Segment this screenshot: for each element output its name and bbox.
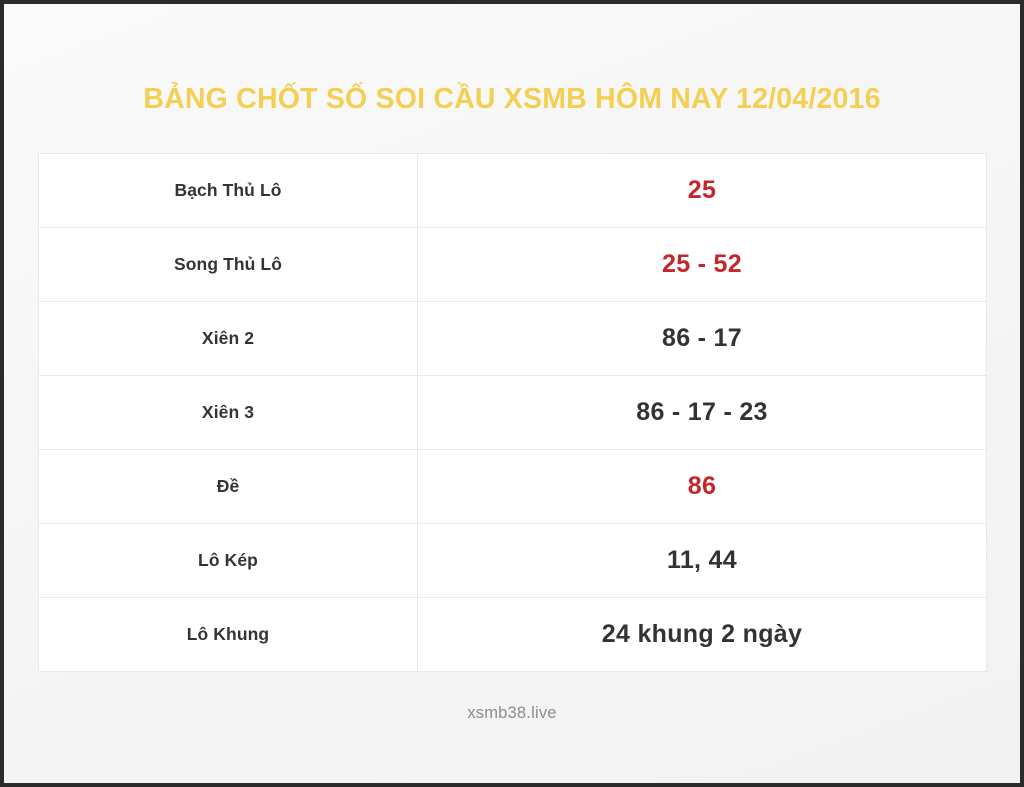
row-value-xien-3: 86 - 17 - 23 — [418, 376, 987, 450]
poster-canvas: BẢNG CHỐT SỐ SOI CẦU XSMB HÔM NAY 12/04/… — [4, 4, 1020, 783]
row-label-song-thu-lo: Song Thủ Lô — [39, 228, 418, 302]
row-label-bach-thu-lo: Bạch Thủ Lô — [39, 154, 418, 228]
row-value-lo-khung: 24 khung 2 ngày — [418, 598, 987, 672]
row-label-xien-2: Xiên 2 — [39, 302, 418, 376]
row-value-lo-kep: 11, 44 — [418, 524, 987, 598]
row-label-de: Đề — [39, 450, 418, 524]
table-row: Xiên 2 86 - 17 — [39, 302, 987, 376]
row-label-lo-kep: Lô Kép — [39, 524, 418, 598]
row-value-xien-2: 86 - 17 — [418, 302, 987, 376]
footer-credit: xsmb38.live — [4, 704, 1020, 723]
row-value-bach-thu-lo: 25 — [418, 154, 987, 228]
row-value-song-thu-lo: 25 - 52 — [418, 228, 987, 302]
row-label-lo-khung: Lô Khung — [39, 598, 418, 672]
row-value-de: 86 — [418, 450, 987, 524]
table-row: Xiên 3 86 - 17 - 23 — [39, 376, 987, 450]
table-row: Lô Kép 11, 44 — [39, 524, 987, 598]
row-label-xien-3: Xiên 3 — [39, 376, 418, 450]
table-row: Đề 86 — [39, 450, 987, 524]
soicau-table: Bạch Thủ Lô 25 Song Thủ Lô 25 - 52 Xiên … — [38, 153, 987, 672]
table-row: Song Thủ Lô 25 - 52 — [39, 228, 987, 302]
page-title: BẢNG CHỐT SỐ SOI CẦU XSMB HÔM NAY 12/04/… — [4, 83, 1020, 116]
table-row: Lô Khung 24 khung 2 ngày — [39, 598, 987, 672]
table-row: Bạch Thủ Lô 25 — [39, 154, 987, 228]
soicau-table-container: Bạch Thủ Lô 25 Song Thủ Lô 25 - 52 Xiên … — [38, 153, 986, 672]
soicau-table-body: Bạch Thủ Lô 25 Song Thủ Lô 25 - 52 Xiên … — [39, 154, 987, 672]
